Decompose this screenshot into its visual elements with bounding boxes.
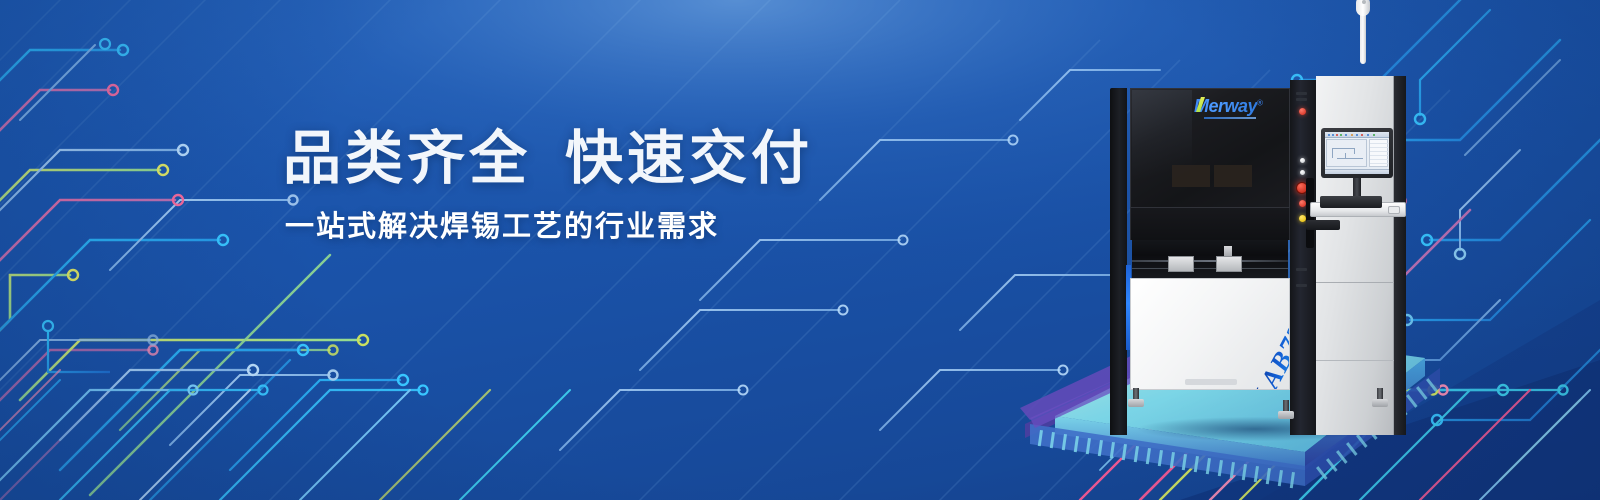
indicator-white-1 [1300, 158, 1305, 163]
machine-foot-3 [1372, 388, 1388, 410]
glass-hatch-right [1214, 165, 1252, 187]
body-panel-seam-1 [1316, 282, 1394, 283]
conveyor-rail-1 [1132, 260, 1288, 262]
signal-tower-icon [1360, 8, 1366, 64]
indicator-red-lower [1299, 200, 1306, 207]
model-label: LAB730 [1247, 307, 1290, 390]
page-subtitle: 一站式解决焊锡工艺的行业需求 [285, 203, 813, 245]
machine-lower-door: LAB730 [1130, 278, 1290, 390]
indicator-red-top [1299, 108, 1306, 115]
promo-banner: 品类齐全快速交付 一站式解决焊锡工艺的行业需求 Merway® [0, 0, 1600, 500]
indicator-white-2 [1300, 170, 1305, 175]
software-data-grid [1369, 139, 1388, 167]
machine-left-column [1110, 88, 1127, 435]
machine-foot-2 [1278, 400, 1294, 422]
software-toolbar [1325, 132, 1389, 138]
glass-hatch-left [1172, 165, 1210, 187]
brand-logo: Merway® [1194, 96, 1263, 117]
machine-front-glass-lower [1130, 208, 1290, 240]
body-panel-seam-2 [1316, 360, 1394, 361]
vent-slot-2 [1296, 98, 1307, 101]
glass-reflection [1132, 90, 1192, 206]
brand-registered-mark: ® [1257, 99, 1263, 108]
headline-part-2: 快速交付 [565, 126, 813, 191]
arm-clamp [1306, 220, 1340, 230]
brand-logo-underline [1204, 117, 1256, 119]
vent-slot-1 [1296, 92, 1307, 95]
conveyor-block-2 [1216, 256, 1242, 272]
signal-tower-dot-icon [1362, 0, 1366, 4]
conveyor-block-1 [1168, 256, 1194, 272]
conveyor-icon [1132, 240, 1288, 278]
monitor-screen [1325, 132, 1389, 174]
software-status-bar [1325, 169, 1389, 174]
software-canvas [1326, 139, 1367, 167]
headline-part-1: 品类齐全 [283, 126, 531, 191]
mouse-icon [1388, 206, 1400, 214]
vent-slot-4 [1296, 284, 1307, 287]
product-machine: Merway® LAB730 [1110, 70, 1410, 435]
machine-foot-1 [1128, 388, 1144, 410]
door-handle-notch [1185, 379, 1237, 385]
conveyor-rail-2 [1132, 268, 1288, 269]
machine-control-column [1290, 80, 1316, 435]
headline-block: 品类齐全快速交付 一站式解决焊锡工艺的行业需求 [283, 128, 813, 245]
machine-right-edge [1394, 76, 1406, 435]
page-title: 品类齐全快速交付 [283, 128, 813, 189]
vent-slot-3 [1296, 268, 1307, 271]
indicator-yellow [1299, 215, 1306, 222]
keyboard-icon [1320, 196, 1382, 208]
